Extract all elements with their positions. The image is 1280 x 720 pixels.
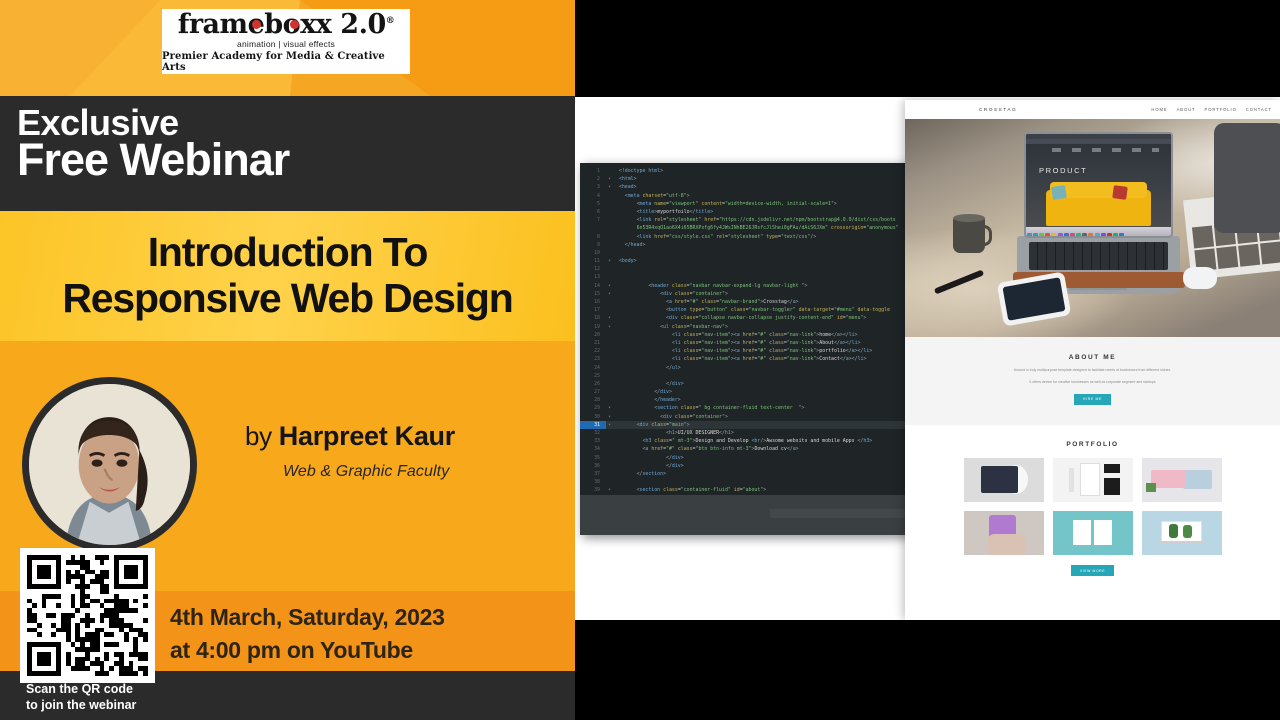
code-text: <link href="css/style.css" rel="styleshe… <box>613 233 816 241</box>
fold-arrow-icon[interactable] <box>606 429 613 437</box>
portfolio-item[interactable] <box>1142 511 1222 555</box>
fold-arrow-icon[interactable] <box>606 462 613 470</box>
line-number: 38 <box>580 478 606 486</box>
coffee-mug <box>953 217 985 253</box>
code-text: </ul> <box>613 364 681 372</box>
by-prefix: by <box>245 421 279 451</box>
line-number: 39 <box>580 486 606 494</box>
smartphone-screen <box>1002 277 1065 321</box>
fold-arrow-icon[interactable] <box>606 208 613 216</box>
line-number: 13 <box>580 273 606 281</box>
kicker-text: Exclusive Free Webinar <box>0 96 575 182</box>
qr-caption: Scan the QR code to join the webinar <box>26 682 136 713</box>
code-text: <h3 class=" mt-3">Design and Develop <br… <box>613 437 872 445</box>
logo-dot-icon <box>252 20 261 29</box>
fold-arrow-icon[interactable] <box>606 372 613 380</box>
line-number: 22 <box>580 347 606 355</box>
speaker-name: Harpreet Kaur <box>279 421 455 451</box>
fold-arrow-icon[interactable] <box>606 364 613 372</box>
logo-wordmark: frameboxx 2.0® <box>178 11 395 38</box>
schedule-line-1: 4th March, Saturday, 2023 <box>170 601 445 634</box>
line-number: 37 <box>580 470 606 478</box>
code-text: <ul class="navbar-nav"> <box>613 323 728 331</box>
fold-arrow-icon[interactable] <box>606 355 613 363</box>
line-number: 8 <box>580 233 606 241</box>
laptop-screen: PRODUCT <box>1026 134 1171 236</box>
preview-nav-item[interactable]: ABOUT <box>1177 107 1196 112</box>
logo-dot-icon <box>290 20 299 29</box>
preview-about-section: ABOUT ME Around is truly multipurpose te… <box>905 337 1280 425</box>
preview-nav-item[interactable]: CONTACT <box>1246 107 1272 112</box>
qr-caption-line-2: to join the webinar <box>26 698 136 714</box>
laptop-website-nav <box>1052 148 1159 152</box>
code-text <box>613 249 619 257</box>
fold-arrow-icon[interactable] <box>606 454 613 462</box>
fold-arrow-icon[interactable] <box>606 273 613 281</box>
fold-arrow-icon[interactable] <box>606 470 613 478</box>
fold-arrow-icon[interactable] <box>606 396 613 404</box>
fold-arrow-icon[interactable] <box>606 224 613 232</box>
portfolio-item[interactable] <box>1053 458 1133 502</box>
laptop-website: PRODUCT <box>1026 144 1171 227</box>
fold-arrow-icon[interactable] <box>606 298 613 306</box>
code-text: <li class="nav-item"><a href="#" class="… <box>613 355 866 363</box>
page-title: Introduction To Responsive Web Design <box>0 211 575 341</box>
code-text: <li class="nav-item"><a href="#" class="… <box>613 339 861 347</box>
speaker-portrait <box>29 384 190 545</box>
code-text: </div> <box>613 380 684 388</box>
logo-subtitle: Premier Academy for Media & Creative Art… <box>162 51 410 73</box>
chair <box>1214 123 1280 233</box>
laptop-dock <box>1026 227 1171 236</box>
line-number: 6 <box>580 208 606 216</box>
line-number: 1 <box>580 167 606 175</box>
code-text <box>613 372 619 380</box>
schedule-line-2: at 4:00 pm on YouTube <box>170 634 445 667</box>
logo-tagline: animation | visual effects <box>237 39 335 49</box>
website-preview[interactable]: CROSSTAG HOMEABOUTPORTFOLIOCONTACT <box>905 100 1280 620</box>
line-number: 9 <box>580 241 606 249</box>
code-text: <title>myportfoilo</title> <box>613 208 713 216</box>
preview-navbar: CROSSTAG HOMEABOUTPORTFOLIOCONTACT <box>905 100 1280 119</box>
line-number: 18 <box>580 314 606 322</box>
about-paragraph-1: Around is truly multipurpose template de… <box>905 367 1280 373</box>
line-number: 19 <box>580 323 606 331</box>
code-text: <html> <box>613 175 637 183</box>
about-heading: ABOUT ME <box>905 354 1280 361</box>
fold-arrow-icon[interactable]: ▾ <box>606 314 613 322</box>
preview-brand[interactable]: CROSSTAG <box>979 107 1017 112</box>
fold-arrow-icon[interactable] <box>606 445 613 453</box>
code-text: <section class="container-fluid" id="abo… <box>613 486 766 494</box>
cushion-teal <box>1051 185 1067 200</box>
code-text: <li class="nav-item"><a href="#" class="… <box>613 331 858 339</box>
preview-nav-links: HOMEABOUTPORTFOLIOCONTACT <box>1151 107 1272 112</box>
preview-spacer <box>905 587 1280 620</box>
code-text: <link rel="stylesheet" href="https://cdn… <box>613 216 896 224</box>
title-line-2: Responsive Web Design <box>62 276 512 322</box>
fold-arrow-icon[interactable]: ▾ <box>606 323 613 331</box>
code-text: <body> <box>613 257 637 265</box>
line-number: 23 <box>580 355 606 363</box>
code-text <box>613 273 619 281</box>
logo-name: frameboxx 2.0 <box>178 9 386 40</box>
line-number: 28 <box>580 396 606 404</box>
portfolio-item[interactable] <box>1142 458 1222 502</box>
qr-caption-line-1: Scan the QR code <box>26 682 136 698</box>
code-text <box>613 478 619 486</box>
code-text: <meta charset="utf-8"> <box>613 192 690 200</box>
view-more-button[interactable]: VIEW MORE <box>1071 565 1114 576</box>
fold-arrow-icon[interactable]: ▾ <box>606 404 613 412</box>
cushion-red <box>1112 185 1128 200</box>
portfolio-item[interactable] <box>964 458 1044 502</box>
code-text: <section class=" bg container-fluid text… <box>613 404 804 412</box>
code-text: <div class="main"> <box>613 421 690 429</box>
fold-arrow-icon[interactable] <box>606 216 613 224</box>
screen-share-region: 1 <!doctype html>2▾ <html>3▾ <head>4 <me… <box>575 0 1280 720</box>
logo-band: frameboxx 2.0® animation | visual effect… <box>0 0 575 96</box>
coffee-mug-rim <box>953 214 985 222</box>
code-text: <div class="container"> <box>613 413 728 421</box>
line-number: 3 <box>580 183 606 191</box>
code-text <box>613 265 619 273</box>
qr-code-matrix <box>27 555 148 676</box>
code-text: <div class="container"> <box>613 290 728 298</box>
fold-arrow-icon[interactable]: ▾ <box>606 257 613 265</box>
fold-arrow-icon[interactable] <box>606 192 613 200</box>
schedule-text: 4th March, Saturday, 2023 at 4:00 pm on … <box>170 601 445 668</box>
code-text: <head> <box>613 183 637 191</box>
code-text: 6n53R4xqQ1ao6X4i65BRXPxfg6fy4JWsINhBE26J… <box>613 224 899 232</box>
line-number: 30 <box>580 413 606 421</box>
code-text: </div> <box>613 454 684 462</box>
portfolio-item[interactable] <box>1053 511 1133 555</box>
line-number: 36 <box>580 462 606 470</box>
line-number: 34 <box>580 445 606 453</box>
fold-arrow-icon[interactable] <box>606 339 613 347</box>
fold-arrow-icon[interactable] <box>606 478 613 486</box>
speaker-role: Web & Graphic Faculty <box>283 463 449 481</box>
code-text: <header class="navbar navbar-expand-lg n… <box>613 282 807 290</box>
code-text: <li class="nav-item"><a href="#" class="… <box>613 347 872 355</box>
line-number: 14 <box>580 282 606 290</box>
code-text: <a href="#" class="navbar-brand">Crossta… <box>613 298 799 306</box>
line-number: 21 <box>580 339 606 347</box>
fold-arrow-icon[interactable]: ▾ <box>606 486 613 494</box>
fold-arrow-icon[interactable]: ▾ <box>606 290 613 298</box>
fold-arrow-icon[interactable] <box>606 437 613 445</box>
fold-arrow-icon[interactable]: ▾ <box>606 183 613 191</box>
fold-arrow-icon[interactable]: ▾ <box>606 282 613 290</box>
line-number: 5 <box>580 200 606 208</box>
code-text: <meta name="viewport" content="width=dev… <box>613 200 837 208</box>
registered-icon: ® <box>386 16 395 26</box>
fold-arrow-icon[interactable] <box>606 241 613 249</box>
fold-arrow-icon[interactable] <box>606 380 613 388</box>
line-number: 16 <box>580 298 606 306</box>
line-number: 29 <box>580 404 606 412</box>
line-number: 33 <box>580 437 606 445</box>
about-paragraph-2: It offers device for creative businesses… <box>905 379 1280 385</box>
hire-me-button[interactable]: HIRE ME <box>1074 394 1111 405</box>
portfolio-heading: PORTFOLIO <box>905 441 1280 448</box>
frameboxx-logo: frameboxx 2.0® animation | visual effect… <box>162 9 410 74</box>
line-number: 15 <box>580 290 606 298</box>
line-number: 24 <box>580 364 606 372</box>
line-number: 26 <box>580 380 606 388</box>
line-number: 2 <box>580 175 606 183</box>
code-text: </div> <box>613 388 672 396</box>
portfolio-grid <box>964 458 1222 555</box>
fold-arrow-icon[interactable]: ▾ <box>606 413 613 421</box>
fold-arrow-icon[interactable] <box>606 200 613 208</box>
code-text: <div class="collapse navbar-collapse jus… <box>613 314 866 322</box>
mouse <box>1183 267 1217 289</box>
preview-portfolio-section: PORTFOLIO VIEW MORE <box>905 425 1280 587</box>
code-text: <a href="#" class="btn btn-info mt-3">Do… <box>613 445 799 453</box>
line-number: 10 <box>580 249 606 257</box>
code-text: <!doctype html> <box>613 167 663 175</box>
laptop-keyboard <box>1029 242 1168 270</box>
fold-arrow-icon[interactable] <box>606 249 613 257</box>
line-number: 32 <box>580 429 606 437</box>
kicker-line-2: Free Webinar <box>17 138 575 183</box>
fold-arrow-icon[interactable] <box>606 331 613 339</box>
line-number: 31 <box>580 421 606 429</box>
fold-arrow-icon[interactable] <box>606 233 613 241</box>
kicker-band: Exclusive Free Webinar <box>0 96 575 211</box>
laptop-hero-word: PRODUCT <box>1039 166 1087 175</box>
title-band: Introduction To Responsive Web Design <box>0 211 575 341</box>
code-text: <h1>UI/UX DESIGNER</h1> <box>613 429 734 437</box>
line-number: 17 <box>580 306 606 314</box>
speaker-byline: by Harpreet Kaur <box>245 421 455 452</box>
preview-nav-item[interactable]: PORTFOLIO <box>1205 107 1237 112</box>
code-text: </header> <box>613 396 681 404</box>
laptop-lid: PRODUCT <box>1024 132 1173 238</box>
line-number: 27 <box>580 388 606 396</box>
code-text: </head> <box>613 241 645 249</box>
line-number: 35 <box>580 454 606 462</box>
qr-code[interactable] <box>20 548 155 683</box>
line-number: 4 <box>580 192 606 200</box>
fold-arrow-icon[interactable] <box>606 306 613 314</box>
code-text: <button type="button" class="navbar-togg… <box>613 306 890 314</box>
line-number: 7 <box>580 216 606 224</box>
fold-arrow-icon[interactable] <box>606 265 613 273</box>
portfolio-item[interactable] <box>964 511 1044 555</box>
screen-capture-frame: frameboxx 2.0® animation | visual effect… <box>0 0 1280 720</box>
fold-arrow-icon[interactable] <box>606 167 613 175</box>
line-number: 11 <box>580 257 606 265</box>
line-number <box>580 224 606 232</box>
line-number: 20 <box>580 331 606 339</box>
preview-hero-image: PRODUCT <box>905 119 1280 337</box>
fold-arrow-icon[interactable]: ▾ <box>606 175 613 183</box>
fold-arrow-icon[interactable]: ▾ <box>606 421 613 429</box>
fold-arrow-icon[interactable] <box>606 347 613 355</box>
fold-arrow-icon[interactable] <box>606 388 613 396</box>
line-number: 12 <box>580 265 606 273</box>
line-number: 25 <box>580 372 606 380</box>
code-text: </div> <box>613 462 684 470</box>
title-line-1: Introduction To <box>148 230 428 276</box>
webinar-poster: frameboxx 2.0® animation | visual effect… <box>0 0 575 720</box>
avatar <box>22 377 197 552</box>
code-text: </section> <box>613 470 666 478</box>
preview-nav-item[interactable]: HOME <box>1151 107 1167 112</box>
